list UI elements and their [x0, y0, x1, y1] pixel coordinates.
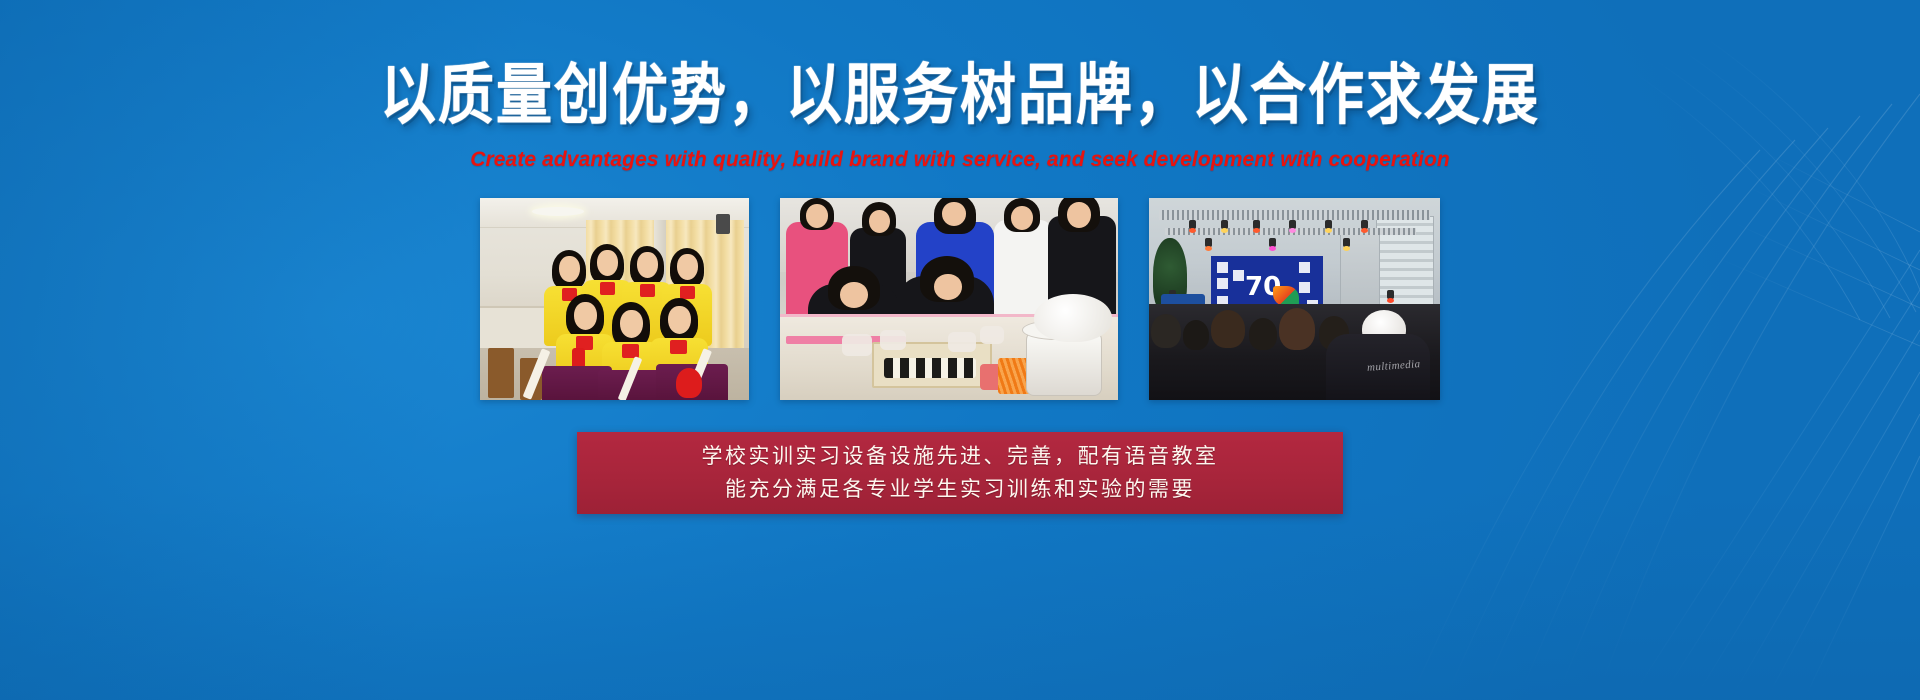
photo-hanbok-classroom[interactable]	[480, 198, 749, 400]
promo-banner: 以质量创优势，以服务树品牌，以合作求发展 Create advantages w…	[0, 0, 1920, 700]
photo-culinary-workshop-scene	[780, 198, 1118, 400]
photo-outdoor-stage-ceremony-scene: 70 multimedia	[1149, 198, 1440, 400]
caption-line-1: 学校实训实习设备设施先进、完善，配有语音教室	[702, 440, 1219, 473]
banner-subheadline: Create advantages with quality, build br…	[470, 148, 1450, 172]
caption-band: 学校实训实习设备设施先进、完善，配有语音教室 能充分满足各专业学生实习训练和实验…	[577, 432, 1343, 514]
photo-culinary-workshop[interactable]	[780, 198, 1118, 400]
photo-gallery: 70 multimedia	[0, 198, 1920, 400]
caption-line-2: 能充分满足各专业学生实习训练和实验的需要	[725, 473, 1195, 506]
photo-hanbok-classroom-scene	[480, 198, 749, 400]
banner-headline: 以质量创优势，以服务树品牌，以合作求发展	[380, 62, 1540, 131]
photo-outdoor-stage-ceremony[interactable]: 70 multimedia	[1149, 198, 1440, 400]
subheadline-container: Create advantages with quality, build br…	[0, 148, 1920, 172]
headline-container: 以质量创优势，以服务树品牌，以合作求发展	[0, 0, 1920, 121]
